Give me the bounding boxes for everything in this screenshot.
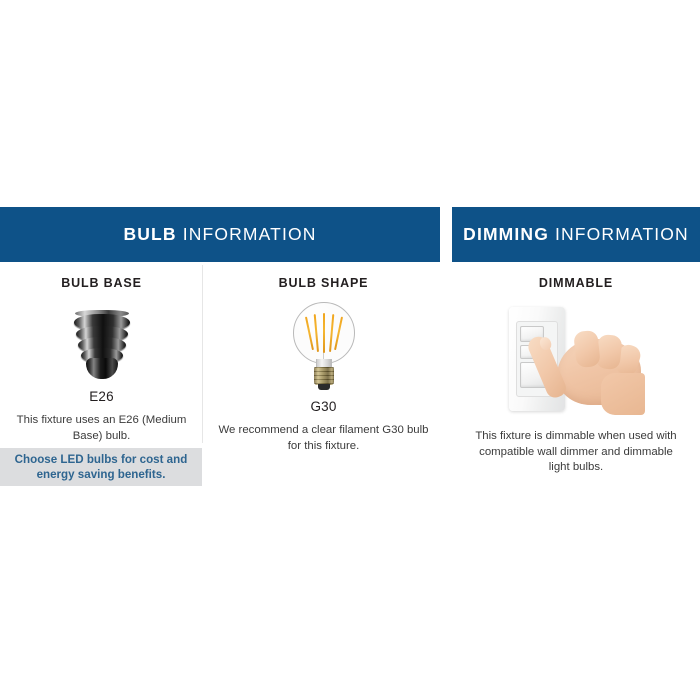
bulb-shape-spec-name: G30 [310,399,336,414]
e26-tip [86,358,118,379]
dimming-information-header: DIMMING INFORMATION [452,207,700,262]
product-info-graphic: BULB INFORMATION BULB BASE [0,0,700,700]
g30-screw-cap [314,367,334,385]
dimming-information-panel: DIMMING INFORMATION DIMMABLE [452,207,700,476]
bulb-information-title-strong: BULB [123,224,176,244]
bulb-information-panel: BULB INFORMATION BULB BASE [0,207,440,454]
bulb-columns-divider [202,265,203,443]
bulb-base-description: This fixture uses an E26 (Medium Base) b… [9,413,195,444]
bulb-base-column: BULB BASE E26 This fixture uses an E26 (… [0,262,203,454]
bulb-shape-column: BULB SHAPE G30 [203,262,440,454]
bulb-information-title-light: INFORMATION [183,224,317,244]
bulb-shape-title: BULB SHAPE [279,276,369,290]
led-bulb-callout: Choose LED bulbs for cost and energy sav… [0,448,202,486]
bulb-information-header: BULB INFORMATION [0,207,440,262]
dimming-information-title: DIMMING INFORMATION [463,224,689,245]
e26-bulb-base-icon [73,310,131,382]
dimmable-column: DIMMABLE [452,262,700,476]
hand-wrist [601,373,645,415]
g30-globe-bulb-icon [293,302,355,392]
dimmable-artwork [501,302,651,417]
dimmable-description: This fixture is dimmable when used with … [470,429,682,476]
dimmable-title: DIMMABLE [539,276,613,290]
dimming-information-title-light: INFORMATION [555,224,689,244]
bulb-shape-description: We recommend a clear filament G30 bulb f… [217,423,431,454]
hand-icon [531,321,643,417]
bulb-base-artwork [73,300,131,382]
bulb-information-body: BULB BASE E26 This fixture uses an E26 (… [0,262,440,454]
g30-filament [323,313,325,353]
hand-finger [573,330,601,368]
bulb-base-spec-name: E26 [89,389,114,404]
g30-base-tip [318,384,330,390]
dimming-information-body: DIMMABLE [452,262,700,476]
bulb-shape-artwork [293,300,355,392]
wall-dimmer-switch-icon [501,305,651,417]
led-bulb-callout-text: Choose LED bulbs for cost and energy sav… [9,452,193,482]
dimming-information-title-strong: DIMMING [463,224,549,244]
bulb-information-title: BULB INFORMATION [123,224,316,245]
bulb-base-title: BULB BASE [61,276,142,290]
